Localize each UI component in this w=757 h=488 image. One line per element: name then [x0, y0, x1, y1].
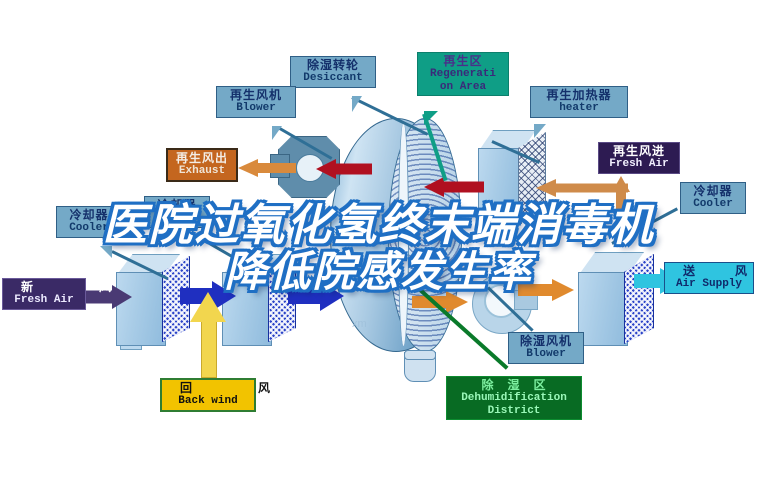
- label-desiccant-en: Desiccant: [295, 72, 371, 84]
- label-back-wind-cn: 回 风: [166, 382, 250, 395]
- label-exhaust-en: Exhaust: [172, 165, 232, 177]
- label-back-wind[interactable]: 回 风 Back wind: [160, 378, 256, 412]
- label-exhaust[interactable]: 再生风出 Exhaust: [166, 148, 238, 182]
- exhaust-arrow-shaft: [256, 163, 296, 173]
- regen-return-shaft: [332, 164, 372, 175]
- label-regen-area-cn: 再生区: [422, 55, 504, 68]
- title-line-2: 降低院感发生率: [0, 251, 757, 294]
- label-dehum-blower-cn: 除湿风机: [513, 335, 579, 348]
- label-desiccant-cn: 除湿转轮: [295, 59, 371, 72]
- label-fresh-air-en: Fresh Air: [7, 294, 81, 306]
- watermark-text: xm: [352, 318, 367, 330]
- label-regen-area-en2: on Area: [422, 81, 504, 93]
- title-overlay: 医院过氧化氢终末端消毒机 降低院感发生率: [0, 204, 757, 294]
- back-wind-arrow: [190, 292, 226, 376]
- label-regen-blower-cn: 再生风机: [221, 89, 291, 102]
- riser-head: [612, 176, 630, 192]
- exhaust-arrow: [238, 160, 296, 176]
- regen-return-head: [316, 159, 336, 179]
- label-cooler-right-cn: 冷却器: [685, 185, 741, 198]
- label-desiccant-tail: [352, 96, 362, 112]
- back-wind-head: [190, 292, 226, 322]
- label-desiccant[interactable]: 除湿转轮 Desiccant: [290, 56, 376, 88]
- rotor-drip-pan-lip: [404, 350, 436, 360]
- label-regen-fresh-air-cn: 再生风进: [603, 145, 675, 158]
- regen-fresh-head: [536, 179, 556, 197]
- label-exhaust-cn: 再生风出: [172, 152, 232, 165]
- label-regen-blower-en: Blower: [221, 102, 291, 114]
- regen-supply-shaft: [442, 182, 484, 193]
- label-dehum-district-en1: Dehumidification: [451, 392, 577, 404]
- label-regen-heater-en: heater: [535, 102, 623, 114]
- regen-supply-arrow: [424, 178, 482, 196]
- back-wind-shaft: [201, 318, 217, 378]
- label-regen-heater-cn: 再生加热器: [535, 89, 623, 102]
- label-regen-area[interactable]: 再生区 Regenerati on Area: [417, 52, 509, 96]
- label-regen-blower-tail: [272, 126, 282, 140]
- label-dehum-blower-en: Blower: [513, 348, 579, 360]
- regen-return-arrow: [316, 160, 370, 178]
- regen-supply-head: [424, 177, 444, 197]
- label-regen-heater-tail: [534, 124, 546, 138]
- label-dehum-district[interactable]: 除 湿 区 Dehumidification District: [446, 376, 582, 420]
- label-dehum-district-cn: 除 湿 区: [451, 379, 577, 392]
- label-back-wind-en: Back wind: [166, 395, 250, 407]
- label-dehum-district-en2: District: [451, 405, 577, 417]
- exhaust-arrow-head: [238, 159, 258, 177]
- label-regen-fresh-air-en: Fresh Air: [603, 158, 675, 170]
- label-regen-area-tail: [424, 111, 438, 125]
- title-line-1: 医院过氧化氢终末端消毒机: [0, 204, 757, 249]
- label-regen-blower[interactable]: 再生风机 Blower: [216, 86, 296, 118]
- label-dehum-blower[interactable]: 除湿风机 Blower: [508, 332, 584, 364]
- diagram-canvas: xm: [0, 0, 757, 488]
- label-regen-area-en1: Regenerati: [422, 68, 504, 80]
- label-regen-heater[interactable]: 再生加热器 heater: [530, 86, 628, 118]
- label-regen-fresh-air[interactable]: 再生风进 Fresh Air: [598, 142, 680, 174]
